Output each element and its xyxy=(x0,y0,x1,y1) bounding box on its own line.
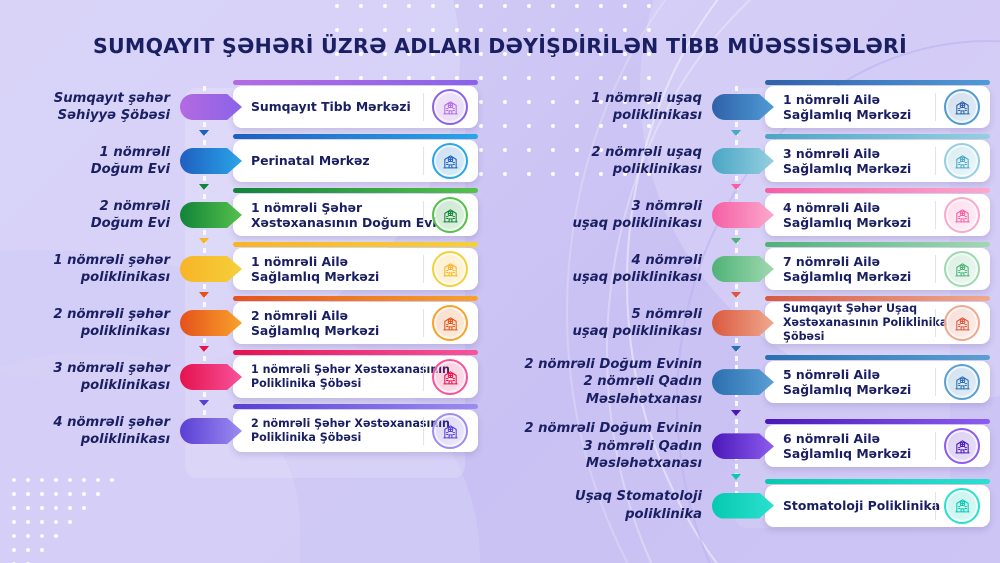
arrow-connector xyxy=(712,310,774,336)
old-institution-name: 2 nömrəli Doğum Evi xyxy=(18,198,180,233)
connector-tick xyxy=(199,238,209,244)
card-divider xyxy=(423,309,424,337)
hospital-building-icon xyxy=(944,251,980,287)
arrow-tag xyxy=(180,94,242,120)
hospital-building-icon xyxy=(944,197,980,233)
institution-card[interactable]: Perinatal Mərkəz xyxy=(233,140,478,182)
hospital-building-icon xyxy=(432,197,468,233)
old-institution-name: Sumqayıt şəhər Səhiyyə Şöbəsi xyxy=(18,90,180,125)
card-accent-bar xyxy=(765,419,990,424)
old-institution-name: 5 nömrəli uşaq poliklinikası xyxy=(478,306,712,341)
card-divider xyxy=(935,309,936,337)
arrow-tag xyxy=(180,418,242,444)
arrow-connector xyxy=(712,256,774,282)
institution-card[interactable]: 3 nömrəli Ailə Sağlamlıq Mərkəzi xyxy=(765,140,990,182)
connector-tick xyxy=(731,410,741,416)
arrow-tag xyxy=(180,202,242,228)
card-accent-bar xyxy=(765,355,990,360)
connector-tick xyxy=(731,346,741,352)
card-accent-bar xyxy=(233,404,478,409)
pipeline-row: 5 nömrəli uşaq poliklinikasıSumqayıt Şəh… xyxy=(478,302,990,344)
arrow-connector xyxy=(180,202,242,228)
connector-tick xyxy=(199,130,209,136)
connector-tick xyxy=(731,238,741,244)
arrow-connector xyxy=(712,369,774,395)
old-institution-name: 2 nömrəli uşaq poliklinikası xyxy=(478,144,712,179)
card-divider xyxy=(935,93,936,121)
pipeline-row: 2 nömrəli Doğum Evinin 3 nömrəli Qadın M… xyxy=(478,420,990,472)
pipeline-row: 2 nömrəli Doğum Evi1 nömrəli Şəhər Xəstə… xyxy=(18,194,478,236)
pipeline-row: 4 nömrəli şəhər poliklinikası2 nömrəli Ş… xyxy=(18,410,478,452)
pipeline-row: 4 nömrəli uşaq poliklinikası7 nömrəli Ai… xyxy=(478,248,990,290)
hospital-building-icon xyxy=(432,251,468,287)
institution-card[interactable]: Sumqayıt Tibb Mərkəzi xyxy=(233,86,478,128)
arrow-connector xyxy=(712,94,774,120)
old-institution-name: Uşaq Stomatoloji poliklinika xyxy=(478,488,712,523)
hospital-building-icon xyxy=(432,413,468,449)
old-institution-name: 2 nömrəli Doğum Evinin 2 nömrəli Qadın M… xyxy=(478,356,712,408)
card-accent-bar xyxy=(765,479,990,484)
hospital-building-icon xyxy=(944,305,980,341)
arrow-connector xyxy=(180,256,242,282)
card-divider xyxy=(935,255,936,283)
card-accent-bar xyxy=(233,350,478,355)
arrow-tag xyxy=(712,148,774,174)
card-accent-bar xyxy=(765,296,990,301)
arrow-tag xyxy=(712,310,774,336)
connector-tick xyxy=(731,474,741,480)
arrow-connector xyxy=(180,364,242,390)
pipeline-row: 3 nömrəli şəhər poliklinikası1 nömrəli Ş… xyxy=(18,356,478,398)
arrow-tag xyxy=(180,256,242,282)
institution-card[interactable]: 1 nömrəli Ailə Sağlamlıq Mərkəzi xyxy=(233,248,478,290)
pipeline-row: 1 nömrəli şəhər poliklinikası1 nömrəli A… xyxy=(18,248,478,290)
card-divider xyxy=(423,147,424,175)
arrow-tag xyxy=(712,433,774,459)
connector-tick xyxy=(199,346,209,352)
old-institution-name: 2 nömrəli şəhər poliklinikası xyxy=(18,306,180,341)
institution-card[interactable]: 4 nömrəli Ailə Sağlamlıq Mərkəzi xyxy=(765,194,990,236)
old-institution-name: 4 nömrəli şəhər poliklinikası xyxy=(18,414,180,449)
arrow-tag xyxy=(180,148,242,174)
card-divider xyxy=(935,201,936,229)
arrow-connector xyxy=(180,418,242,444)
card-accent-bar xyxy=(765,188,990,193)
card-accent-bar xyxy=(765,80,990,85)
hospital-building-icon xyxy=(432,89,468,125)
arrow-connector xyxy=(712,493,774,519)
institution-card[interactable]: 1 nömrəli Şəhər Xəstəxanasının Doğum Evi xyxy=(233,194,478,236)
card-accent-bar xyxy=(233,188,478,193)
arrow-connector xyxy=(180,94,242,120)
infographic-canvas: SUMQAYIT ŞƏHƏRİ ÜZRƏ ADLARI DƏYİŞDİRİLƏN… xyxy=(0,0,1000,563)
arrow-tag xyxy=(712,493,774,519)
connector-tick xyxy=(731,184,741,190)
card-accent-bar xyxy=(233,134,478,139)
card-accent-bar xyxy=(233,80,478,85)
connector-tick xyxy=(199,400,209,406)
pipeline-row: 2 nömrəli Doğum Evinin 2 nömrəli Qadın M… xyxy=(478,356,990,408)
card-divider xyxy=(423,255,424,283)
institution-card[interactable]: 5 nömrəli Ailə Sağlamlıq Mərkəzi xyxy=(765,361,990,403)
connector-tick xyxy=(731,292,741,298)
hospital-building-icon xyxy=(432,359,468,395)
arrow-tag xyxy=(180,310,242,336)
institution-card[interactable]: 2 nömrəli Şəhər Xəstəxanasının Poliklini… xyxy=(233,410,478,452)
institution-card[interactable]: Stomatoloji Poliklinika xyxy=(765,485,990,527)
pipeline-row: 2 nömrəli şəhər poliklinikası2 nömrəli A… xyxy=(18,302,478,344)
pipeline-row: 2 nömrəli uşaq poliklinikası3 nömrəli Ai… xyxy=(478,140,990,182)
old-institution-name: 1 nömrəli Doğum Evi xyxy=(18,144,180,179)
card-divider xyxy=(935,368,936,396)
old-institution-name: 1 nömrəli uşaq poliklinikası xyxy=(478,90,712,125)
arrow-connector xyxy=(180,148,242,174)
card-accent-bar xyxy=(233,242,478,247)
arrow-tag xyxy=(712,369,774,395)
card-accent-bar xyxy=(765,134,990,139)
card-divider xyxy=(423,93,424,121)
connector-tick xyxy=(731,130,741,136)
old-institution-name: 3 nömrəli şəhər poliklinikası xyxy=(18,360,180,395)
arrow-tag xyxy=(180,364,242,390)
card-divider xyxy=(423,363,424,391)
card-divider xyxy=(935,432,936,460)
card-divider xyxy=(935,492,936,520)
hospital-building-icon xyxy=(432,143,468,179)
institution-card[interactable]: Sumqayıt Şəhər Uşaq Xəstəxanasının Polik… xyxy=(765,302,990,344)
arrow-connector xyxy=(712,148,774,174)
card-divider xyxy=(423,201,424,229)
connector-tick xyxy=(199,292,209,298)
old-institution-name: 4 nömrəli uşaq poliklinikası xyxy=(478,252,712,287)
pipeline-row: Sumqayıt şəhər Səhiyyə ŞöbəsiSumqayıt Ti… xyxy=(18,86,478,128)
hospital-building-icon xyxy=(944,428,980,464)
left-column: Sumqayıt şəhər Səhiyyə ŞöbəsiSumqayıt Ti… xyxy=(18,86,478,452)
old-institution-name: 3 nömrəli uşaq poliklinikası xyxy=(478,198,712,233)
institution-card[interactable]: 1 nömrəli Şəhər Xəstəxanasının Poliklini… xyxy=(233,356,478,398)
institution-card[interactable]: 6 nömrəli Ailə Sağlamlıq Mərkəzi xyxy=(765,425,990,467)
right-column: 1 nömrəli uşaq poliklinikası1 nömrəli Ai… xyxy=(478,86,990,527)
arrow-connector xyxy=(712,433,774,459)
connector-tick xyxy=(199,184,209,190)
hospital-building-icon xyxy=(944,143,980,179)
page-title: SUMQAYIT ŞƏHƏRİ ÜZRƏ ADLARI DƏYİŞDİRİLƏN… xyxy=(0,34,1000,58)
hospital-building-icon xyxy=(944,488,980,524)
institution-card[interactable]: 7 nömrəli Ailə Sağlamlıq Mərkəzi xyxy=(765,248,990,290)
hospital-building-icon xyxy=(944,364,980,400)
old-institution-name: 1 nömrəli şəhər poliklinikası xyxy=(18,252,180,287)
hospital-building-icon xyxy=(432,305,468,341)
arrow-connector xyxy=(712,202,774,228)
card-divider xyxy=(935,147,936,175)
hospital-building-icon xyxy=(944,89,980,125)
arrow-tag xyxy=(712,94,774,120)
pipeline-row: 1 nömrəli uşaq poliklinikası1 nömrəli Ai… xyxy=(478,86,990,128)
institution-card[interactable]: 1 nömrəli Ailə Sağlamlıq Mərkəzi xyxy=(765,86,990,128)
arrow-tag xyxy=(712,202,774,228)
pipeline-row: Uşaq Stomatoloji poliklinikaStomatoloji … xyxy=(478,485,990,527)
card-accent-bar xyxy=(765,242,990,247)
card-divider xyxy=(423,417,424,445)
card-accent-bar xyxy=(233,296,478,301)
old-institution-name: 2 nömrəli Doğum Evinin 3 nömrəli Qadın M… xyxy=(478,420,712,472)
pipeline-row: 3 nömrəli uşaq poliklinikası4 nömrəli Ai… xyxy=(478,194,990,236)
arrow-tag xyxy=(712,256,774,282)
pipeline-row: 1 nömrəli Doğum EviPerinatal Mərkəz xyxy=(18,140,478,182)
arrow-connector xyxy=(180,310,242,336)
institution-card[interactable]: 2 nömrəli Ailə Sağlamlıq Mərkəzi xyxy=(233,302,478,344)
